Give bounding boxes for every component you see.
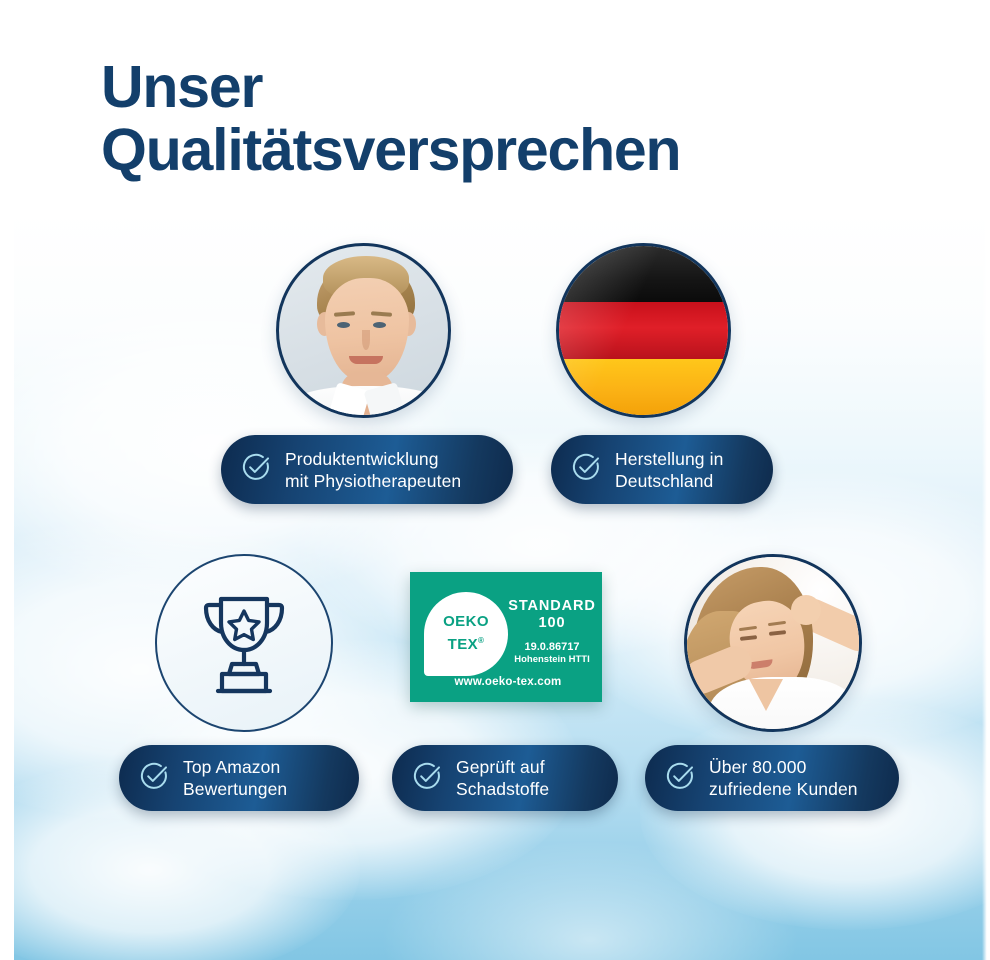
left-white-edge bbox=[0, 0, 14, 960]
oeko-tex-label: OEKO TEX® STANDARD 100 19.0.86717 Hohens… bbox=[410, 572, 602, 702]
oeko-tex-standard: STANDARD 100 bbox=[508, 598, 596, 632]
oeko-tex-brand-line2: TEX bbox=[448, 636, 478, 653]
oeko-tex-standard-word: STANDARD bbox=[508, 598, 595, 614]
oeko-tex-certificate-number: 19.0.86717 bbox=[506, 640, 598, 654]
check-circle-icon bbox=[665, 761, 695, 796]
right-white-edge bbox=[982, 0, 990, 960]
badge-kunden[interactable]: Über 80.000 zufriedene Kunden bbox=[645, 745, 899, 811]
check-circle-icon bbox=[412, 761, 442, 796]
portrait-eye-right bbox=[373, 322, 386, 328]
page-title: Unser Qualitätsversprechen bbox=[101, 56, 901, 182]
badge-schadstoffe[interactable]: Geprüft auf Schadstoffe bbox=[392, 745, 618, 811]
portrait-mouth bbox=[349, 356, 383, 364]
oeko-tex-url: www.oeko-tex.com bbox=[422, 676, 594, 688]
oeko-tex-droplet-shape: OEKO TEX® bbox=[424, 592, 508, 676]
oeko-tex-standard-number: 100 bbox=[539, 615, 566, 631]
check-circle-icon bbox=[571, 452, 601, 487]
badge-produktentwicklung[interactable]: Produktentwicklung mit Physiotherapeuten bbox=[221, 435, 513, 504]
portrait-photo bbox=[276, 243, 451, 418]
portrait-nose bbox=[362, 330, 370, 350]
registered-mark: ® bbox=[478, 636, 484, 645]
flag-gloss-overlay bbox=[559, 246, 728, 415]
badge-label: Top Amazon Bewertungen bbox=[183, 756, 287, 800]
check-circle-icon bbox=[241, 452, 271, 487]
badge-label: Herstellung in Deutschland bbox=[615, 448, 723, 492]
woman-hand-right bbox=[791, 595, 821, 625]
sleeping-woman-photo bbox=[684, 554, 862, 732]
quality-promise-infographic: Unser Qualitätsversprechen bbox=[0, 0, 990, 960]
badge-herstellung[interactable]: Herstellung in Deutschland bbox=[551, 435, 773, 504]
portrait-eye-left bbox=[337, 322, 350, 328]
trophy-icon-circle bbox=[155, 554, 333, 732]
oeko-tex-brand: OEKO TEX® bbox=[424, 612, 508, 654]
woman-shirt bbox=[709, 677, 859, 732]
oeko-tex-institute: Hohenstein HTTI bbox=[506, 654, 598, 666]
badge-amazon[interactable]: Top Amazon Bewertungen bbox=[119, 745, 359, 811]
check-circle-icon bbox=[139, 761, 169, 796]
badge-label: Produktentwicklung mit Physiotherapeuten bbox=[285, 448, 461, 492]
oeko-tex-brand-line1: OEKO bbox=[443, 613, 489, 630]
badge-label: Über 80.000 zufriedene Kunden bbox=[709, 756, 858, 800]
trophy-icon bbox=[191, 587, 297, 699]
german-flag bbox=[556, 243, 731, 418]
badge-label: Geprüft auf Schadstoffe bbox=[456, 756, 549, 800]
